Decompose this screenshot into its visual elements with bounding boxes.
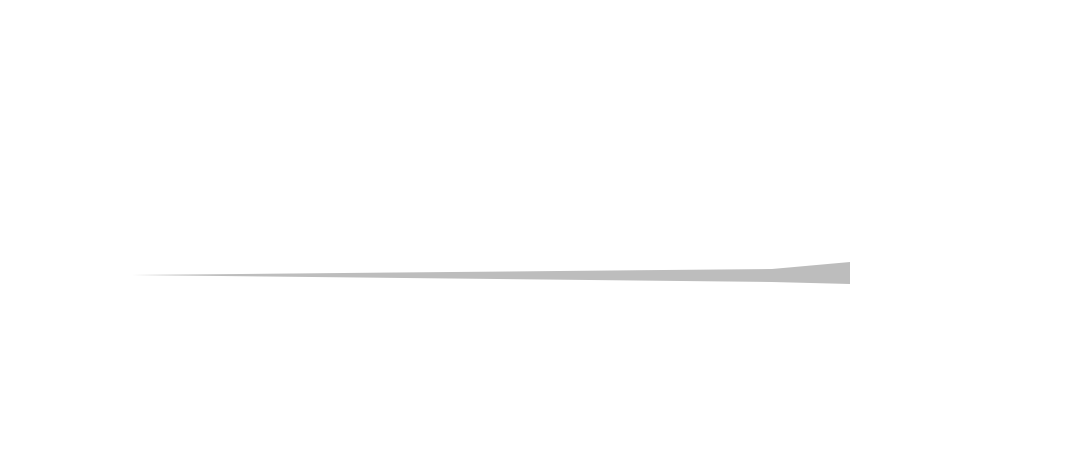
ly6e-expression-wedge xyxy=(132,262,850,286)
